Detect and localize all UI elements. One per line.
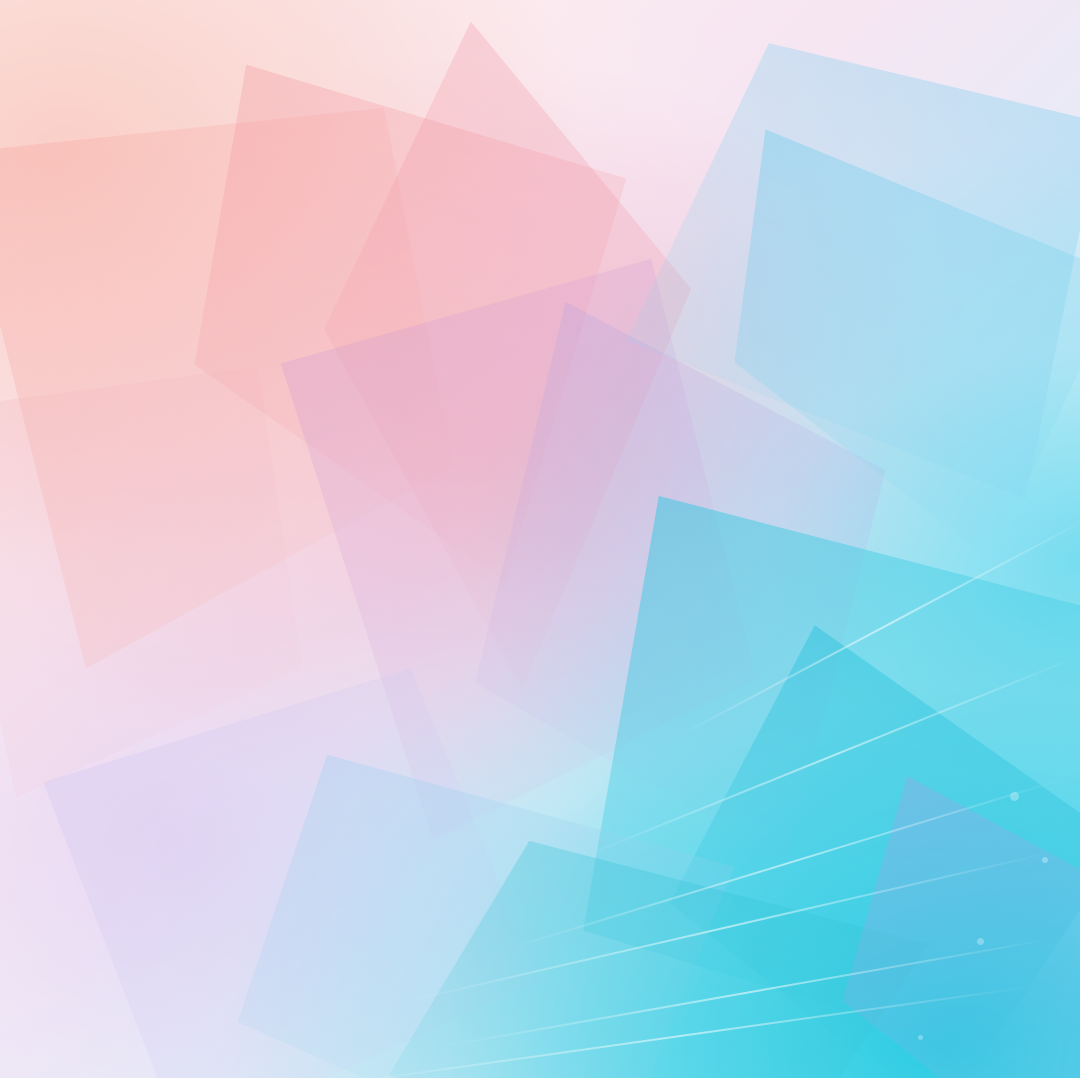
banner-title: When will I receive my order? bbox=[0, 0, 1080, 19]
streak-2 bbox=[437, 937, 1054, 1048]
shipping-canada-carrier: (Canada Post Lettermail - without Tracki… bbox=[0, 152, 1080, 171]
shipping-worldwide-duration: - Worldwide Orders: 2-8 weeks bbox=[0, 171, 1080, 190]
shipping-canada-duration: - Canadian Orders: 3-14 business days bbox=[0, 133, 1080, 152]
header-banner: When will I receive my order? bbox=[0, 0, 1080, 19]
disclaimer-line-1: *approximate times estimate based on USP… bbox=[0, 209, 1080, 228]
shipping-info-poster: When will I receive my order? Processing… bbox=[0, 0, 1080, 1078]
streak-6 bbox=[675, 514, 1080, 739]
streak-3 bbox=[509, 777, 1067, 949]
shipping-entry-worldwide: - Worldwide Orders: 2-8 weeks (ChitChats… bbox=[0, 171, 1080, 209]
processing-line-1: - It takes us 1-3 business days to prepa… bbox=[0, 38, 1080, 57]
shard-violet-2 bbox=[842, 776, 1080, 1078]
shard-teal-1 bbox=[389, 841, 929, 1078]
processing-line-2: - We ship packages Mondays-Fridays. bbox=[0, 57, 1080, 76]
streak-5 bbox=[327, 985, 1033, 1078]
poster-content: Processing Time - It takes us 1-3 busine… bbox=[0, 19, 1080, 266]
shard-cyan-4 bbox=[670, 625, 1080, 1078]
shard-lavender-1 bbox=[43, 668, 540, 1078]
bokeh-dot-1 bbox=[1010, 792, 1019, 801]
disclaimer-line-2: These are not guaranteed delivery times … bbox=[0, 228, 1080, 247]
disclaimer-line-3: such as weather, traffic, holidays and p… bbox=[0, 247, 1080, 266]
streak-4 bbox=[581, 654, 1080, 858]
shipping-times-heading: Shipping Times bbox=[0, 76, 1080, 95]
shard-peach-1 bbox=[0, 367, 302, 798]
shipping-entry-canada: - Canadian Orders: 3-14 business days (C… bbox=[0, 133, 1080, 171]
shipping-usa-carrier: (ChitChats with USPS First Class Mail - … bbox=[0, 114, 1080, 133]
shipping-entry-usa: - USA Orders: 3-14 business days (ChitCh… bbox=[0, 95, 1080, 133]
shard-mauve-1 bbox=[281, 259, 756, 841]
shipping-times-heading-text: Shipping Times bbox=[0, 76, 122, 95]
shard-sky-1 bbox=[238, 755, 735, 1078]
bokeh-dot-3 bbox=[977, 938, 984, 945]
disclaimer-text: *approximate times estimate based on USP… bbox=[0, 209, 1080, 266]
shard-cyan-3 bbox=[583, 496, 1080, 1078]
bokeh-dot-2 bbox=[1042, 857, 1048, 863]
shipping-worldwide-carrier: (ChitChats / Ascendia - without Tracking… bbox=[0, 190, 1080, 209]
streak-1 bbox=[397, 852, 1050, 1005]
bokeh-dot-4 bbox=[918, 1035, 923, 1040]
shard-violet-1 bbox=[475, 302, 885, 863]
shipping-usa-duration: - USA Orders: 3-14 business days bbox=[0, 95, 1080, 114]
processing-time-heading-text: Processing Time bbox=[0, 19, 130, 38]
processing-time-heading: Processing Time bbox=[0, 19, 1080, 38]
